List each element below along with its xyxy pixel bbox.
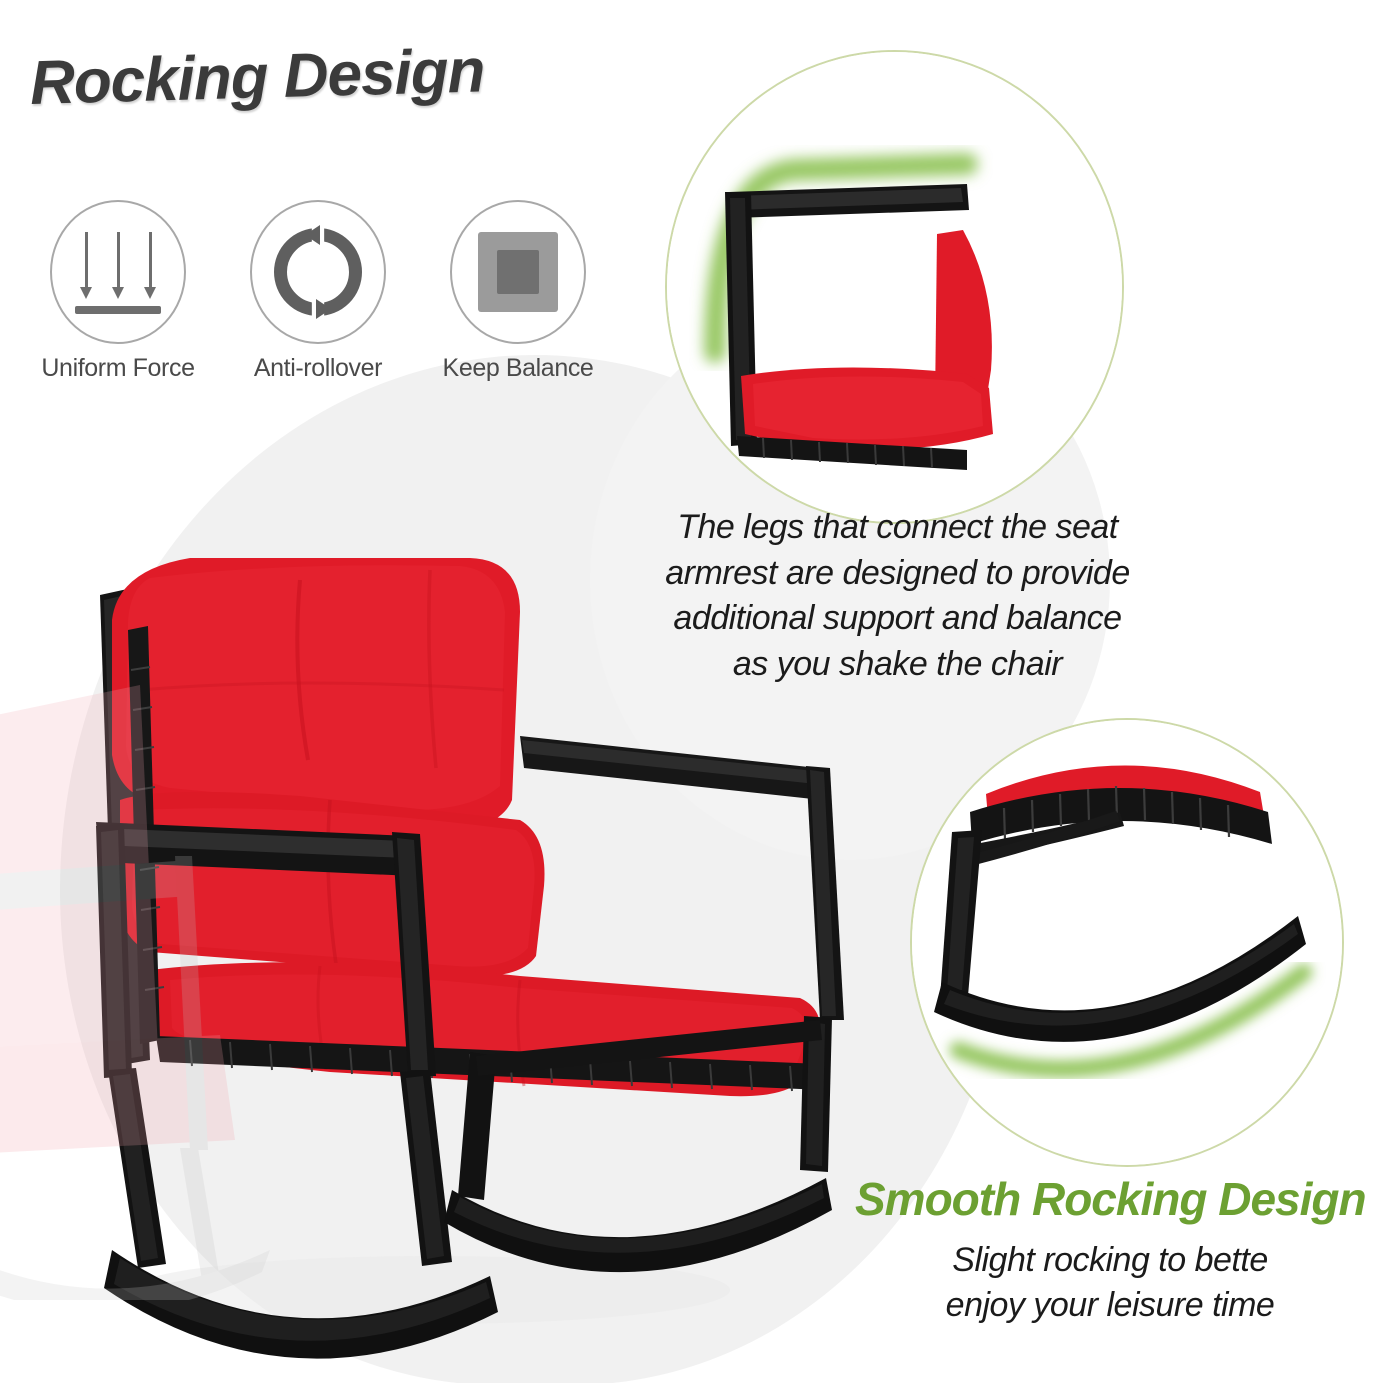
smooth-rocking-title: Smooth Rocking Design (855, 1172, 1366, 1226)
feature-label: Keep Balance (443, 354, 594, 383)
ghost-chair (0, 580, 650, 1300)
armrest-closeup-svg (667, 52, 1122, 522)
sub-line-1: Slight rocking to bette (830, 1238, 1383, 1283)
armrest-description: The legs that connect the seat armrest a… (610, 505, 1185, 687)
desc-line-2: armrest are designed to provide (610, 551, 1185, 597)
rocker-closeup-svg (912, 720, 1342, 1165)
desc-line-1: The legs that connect the seat (610, 505, 1185, 551)
feature-label: Anti-rollover (254, 354, 382, 383)
feature-icon-circle (450, 200, 586, 344)
smooth-rocking-subtitle: Slight rocking to bette enjoy your leisu… (830, 1238, 1383, 1328)
sub-line-2: enjoy your leisure time (830, 1283, 1383, 1328)
feature-label: Uniform Force (41, 354, 194, 383)
feature-uniform-force: Uniform Force (18, 200, 218, 400)
infographic-canvas: Rocking Design Uniform Force Anti-rollov… (0, 0, 1383, 1383)
feature-icon-row: Uniform Force Anti-rollover Keep Balance (18, 200, 618, 400)
nested-squares-icon (478, 232, 558, 312)
feature-icon-circle (50, 200, 186, 344)
desc-line-3: additional support and balance (610, 596, 1185, 642)
feature-icon-circle (250, 200, 386, 344)
callout-armrest (665, 50, 1124, 524)
page-title: Rocking Design (29, 35, 485, 119)
feature-keep-balance: Keep Balance (418, 200, 618, 400)
rotation-cycle-icon (274, 228, 362, 316)
down-arrows-on-bar-icon (75, 230, 161, 314)
feature-anti-rollover: Anti-rollover (218, 200, 418, 400)
callout-rocker (910, 718, 1344, 1167)
desc-line-4: as you shake the chair (610, 642, 1185, 688)
